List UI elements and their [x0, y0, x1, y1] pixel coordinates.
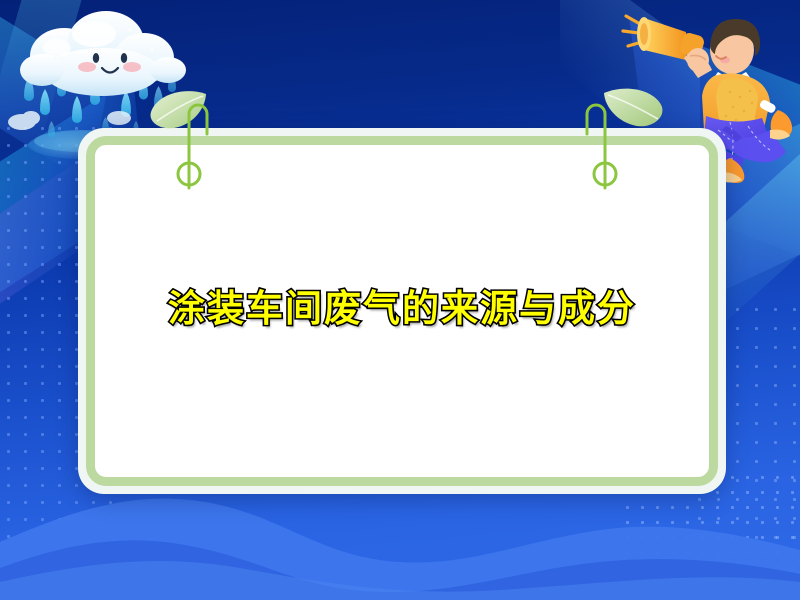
binder-clip-right-icon [578, 92, 624, 192]
presentation-slide: 涂装车间废气的来源与成分 [0, 0, 800, 600]
page-title: 涂装车间废气的来源与成分 [168, 278, 636, 332]
binder-clip-left-icon [175, 92, 221, 192]
card-inner-area: 涂装车间废气的来源与成分 [115, 165, 689, 457]
